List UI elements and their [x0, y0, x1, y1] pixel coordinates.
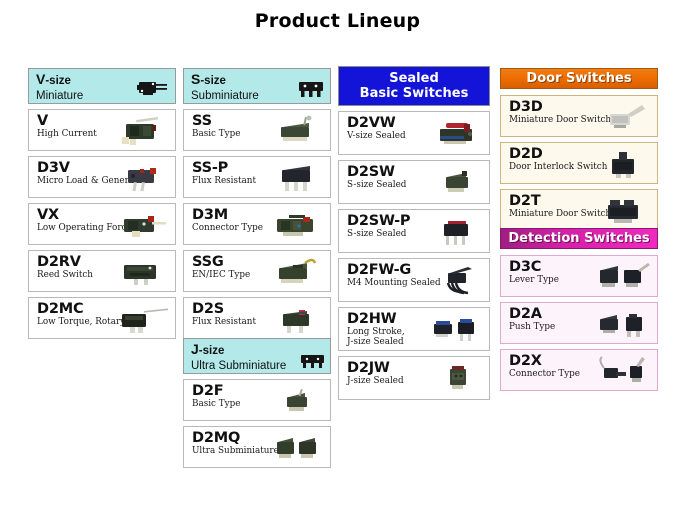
switch-photo-v-icon	[114, 114, 170, 148]
product-card[interactable]: D2T Miniature Door Switch	[500, 189, 658, 231]
product-card[interactable]: D2MC Low Torque, Rotary	[28, 297, 176, 339]
group-name: J	[191, 341, 199, 357]
switch-photo-d2a-icon	[596, 307, 652, 341]
switch-photo-d3v-icon	[114, 161, 170, 195]
product-card[interactable]: D2S Flux Resistant	[183, 297, 331, 339]
switch-photo-d3d-icon	[596, 100, 652, 134]
group-header-detection-switches: Detection Switches	[500, 228, 658, 249]
product-card[interactable]: D2SW S-size Sealed	[338, 160, 490, 204]
group-detection-switches: Detection Switches D3C Lever Type D2A Pu…	[500, 228, 658, 396]
product-card[interactable]: D2FW-G M4 Mounting Sealed	[338, 258, 490, 302]
product-card[interactable]: D3C Lever Type	[500, 255, 658, 297]
switch-photo-d2jw-icon	[428, 361, 484, 395]
product-card[interactable]: SS-P Flux Resistant	[183, 156, 331, 198]
product-card[interactable]: D2X Connector Type	[500, 349, 658, 391]
switch-photo-d2rv-icon	[114, 255, 170, 289]
product-card[interactable]: D2D Door Interlock Switch	[500, 142, 658, 184]
product-card[interactable]: SS Basic Type	[183, 109, 331, 151]
product-card[interactable]: D3D Miniature Door Switch	[500, 95, 658, 137]
product-card[interactable]: D2VW V-size Sealed	[338, 111, 490, 155]
product-card[interactable]: D2MQ Ultra Subminiature	[183, 426, 331, 468]
switch-photo-d2t-icon	[596, 194, 652, 228]
product-card[interactable]: VX Low Operating Force	[28, 203, 176, 245]
group-title-sealed-line2: Basic Switches	[360, 86, 469, 101]
group-door-switches: Door Switches D3D Miniature Door Switch …	[500, 68, 658, 236]
product-card[interactable]: D2HW Long Stroke, J-size Sealed	[338, 307, 490, 351]
switch-photo-ssg-icon	[269, 255, 325, 289]
group-name-suffix: -size	[199, 345, 225, 357]
switch-photo-d2mc-icon	[114, 302, 170, 336]
page-title: Product Lineup	[0, 10, 675, 32]
switch-s-silhouette-icon	[296, 77, 326, 101]
group-header-sealed: Sealed Basic Switches	[338, 66, 490, 106]
product-card[interactable]: D2A Push Type	[500, 302, 658, 344]
switch-photo-ss-icon	[269, 114, 325, 148]
group-header-s-size: S-size Subminiature	[183, 68, 331, 104]
switch-photo-d2f-icon	[269, 384, 325, 418]
switch-photo-d3m-icon	[269, 208, 325, 242]
group-name-suffix: -size	[200, 75, 226, 87]
switch-photo-d2swp-icon	[428, 214, 484, 248]
group-header-j-size: J-size Ultra Subminiature	[183, 338, 331, 374]
product-card[interactable]: V High Current	[28, 109, 176, 151]
product-card[interactable]: D2F Basic Type	[183, 379, 331, 421]
switch-photo-d2sw-icon	[428, 165, 484, 199]
product-card[interactable]: SSG EN/IEC Type	[183, 250, 331, 292]
group-sealed-basic-switches: Sealed Basic Switches D2VW V-size Sealed…	[338, 66, 490, 405]
group-header-door-switches: Door Switches	[500, 68, 658, 89]
group-name: V	[36, 71, 45, 87]
product-card[interactable]: D3M Connector Type	[183, 203, 331, 245]
group-title-detection-switches: Detection Switches	[508, 231, 649, 246]
switch-photo-d2x-icon	[596, 354, 652, 388]
switch-photo-d2vw-icon	[428, 116, 484, 150]
group-title-door-switches: Door Switches	[526, 71, 631, 86]
switch-photo-d2hw-icon	[428, 312, 484, 346]
switch-photo-d2mq-icon	[269, 431, 325, 465]
group-s-size: S-size Subminiature SS Basic Type	[183, 68, 331, 344]
switch-photo-vx-icon	[114, 208, 170, 242]
product-card[interactable]: D2RV Reed Switch	[28, 250, 176, 292]
group-v-size: V-size Miniature V High Current	[28, 68, 176, 344]
group-name-suffix: -size	[45, 75, 71, 87]
switch-photo-d2fwg-icon	[428, 263, 484, 297]
group-header-v-size: V-size Miniature	[28, 68, 176, 104]
product-card[interactable]: D2SW-P S-size Sealed	[338, 209, 490, 253]
switch-photo-d2s-icon	[269, 302, 325, 336]
switch-j-silhouette-icon	[299, 352, 327, 370]
group-name: S	[191, 71, 200, 87]
product-card[interactable]: D2JW J-size Sealed	[338, 356, 490, 400]
group-j-size: J-size Ultra Subminiature D2F Basic Type	[183, 338, 331, 473]
product-card[interactable]: D3V Micro Load & General	[28, 156, 176, 198]
switch-photo-ssp-icon	[269, 161, 325, 195]
switch-v-silhouette-icon	[135, 76, 169, 100]
switch-photo-d3c-icon	[596, 260, 652, 294]
group-title-sealed-line1: Sealed	[389, 71, 439, 86]
switch-photo-d2d-icon	[596, 147, 652, 181]
